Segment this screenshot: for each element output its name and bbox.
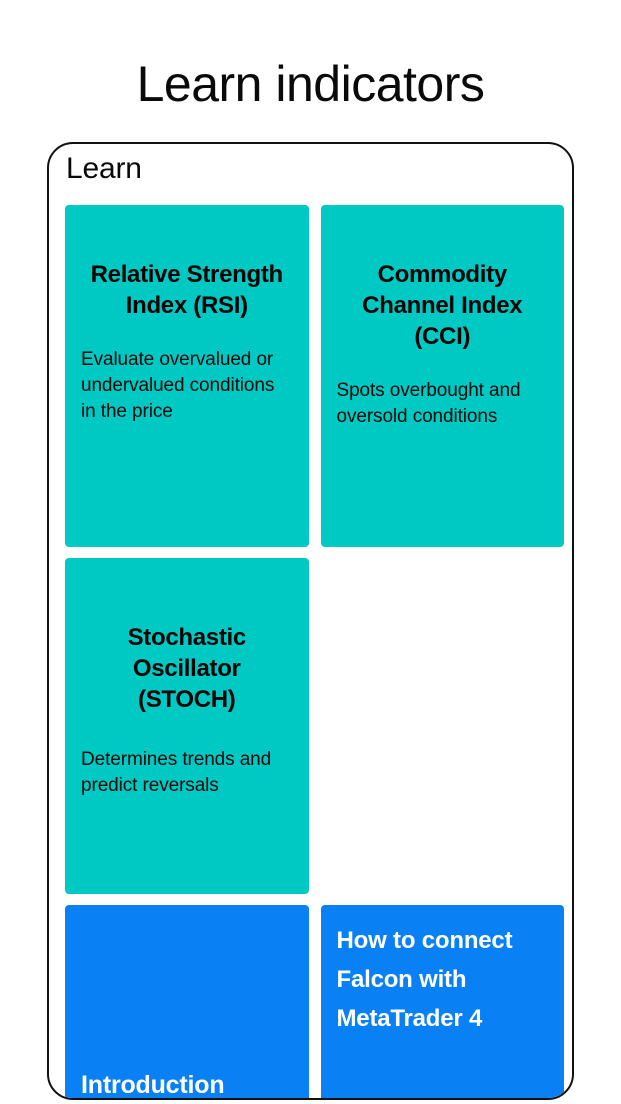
card-description: Spots overbought and oversold conditions — [337, 378, 549, 430]
card-cci[interactable]: Commodity Channel Index (CCI) Spots over… — [321, 205, 565, 547]
card-stoch[interactable]: Stochastic Oscillator (STOCH) Determines… — [65, 558, 309, 894]
card-row-3: Introduction How to connect Falcon with … — [65, 905, 564, 1100]
card-title: How to connect Falcon with MetaTrader 4 — [337, 921, 549, 1038]
card-rsi[interactable]: Relative Strength Index (RSI) Evaluate o… — [65, 205, 309, 547]
card-row-2: Stochastic Oscillator (STOCH) Determines… — [65, 558, 564, 894]
panel-label: Learn — [66, 150, 142, 188]
card-description: Determines trends and predict reversals — [81, 747, 293, 799]
card-title: Stochastic Oscillator (STOCH) — [81, 622, 293, 715]
card-title: Relative Strength Index (RSI) — [81, 259, 293, 321]
card-connect-metatrader[interactable]: How to connect Falcon with MetaTrader 4 — [321, 905, 565, 1100]
card-slot-empty — [321, 558, 565, 894]
card-introduction[interactable]: Introduction — [65, 905, 309, 1100]
card-row-1: Relative Strength Index (RSI) Evaluate o… — [65, 205, 564, 547]
indicator-card-grid: Relative Strength Index (RSI) Evaluate o… — [65, 205, 564, 1100]
learn-indicators-screen: Learn indicators Learn Relative Strength… — [0, 0, 621, 1104]
learn-panel: Learn Relative Strength Index (RSI) Eval… — [47, 142, 574, 1100]
card-title: Commodity Channel Index (CCI) — [337, 259, 549, 352]
page-title: Learn indicators — [0, 54, 621, 114]
card-description: Evaluate overvalued or undervalued condi… — [81, 347, 293, 425]
card-title: Introduction — [81, 1069, 293, 1100]
